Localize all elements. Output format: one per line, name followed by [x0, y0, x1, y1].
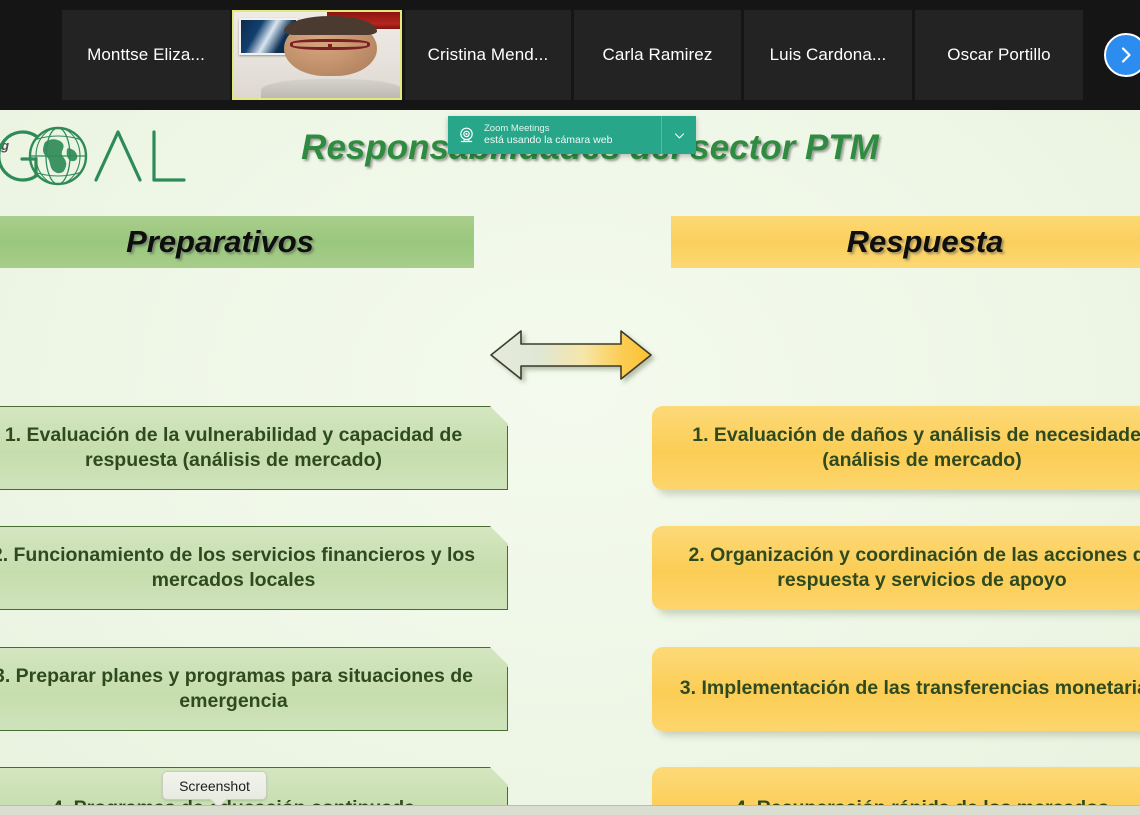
- list-item[interactable]: 3. Implementación de las transferencias …: [652, 647, 1140, 731]
- webcam-in-use-notification[interactable]: Zoom Meetings está usando la cámara web: [448, 116, 696, 154]
- list-item[interactable]: 1. Evaluación de daños y análisis de nec…: [652, 406, 1140, 490]
- list-item-label: 2. Organización y coordinación de las ac…: [668, 543, 1140, 594]
- column-header-label: Respuesta: [847, 224, 1004, 260]
- participant-video: [234, 12, 400, 98]
- box-edge: [507, 546, 509, 609]
- participant-name: Monttse Eliza...: [87, 45, 205, 65]
- participant-tile-active-speaker[interactable]: [232, 10, 402, 100]
- list-item[interactable]: 2. Organización y coordinación de las ac…: [652, 526, 1140, 610]
- list-item[interactable]: 2. Funcionamiento de los servicios finan…: [0, 526, 508, 610]
- screenshot-tooltip: Screenshot: [162, 771, 267, 800]
- participant-name: Luis Cardona...: [770, 45, 887, 65]
- column-header-label: Preparativos: [126, 224, 314, 260]
- chevron-down-icon[interactable]: [662, 129, 696, 142]
- chevron-right-icon[interactable]: [1104, 33, 1140, 77]
- list-item-label: 2. Funcionamiento de los servicios finan…: [0, 543, 492, 594]
- participant-name: Carla Ramirez: [603, 45, 713, 65]
- participant-tile[interactable]: Carla Ramirez: [574, 10, 741, 100]
- list-item-label: 1. Evaluación de daños y análisis de nec…: [668, 423, 1140, 474]
- bottom-edge-bar: [0, 805, 1140, 815]
- list-item-label: 1. Evaluación de la vulnerabilidad y cap…: [0, 423, 492, 474]
- box-edge: [507, 667, 509, 730]
- list-item-label: 3. Implementación de las transferencias …: [680, 676, 1140, 701]
- webcam-icon: [448, 126, 484, 145]
- column-header-respuesta: Respuesta: [671, 216, 1140, 268]
- participant-filmstrip: Monttse Eliza... Cristina Mend... Carla …: [0, 0, 1140, 110]
- participant-tile[interactable]: Cristina Mend...: [405, 10, 571, 100]
- zoom-meeting-screen-share: Monttse Eliza... Cristina Mend... Carla …: [0, 0, 1140, 815]
- double-arrow-icon: [487, 324, 659, 386]
- participant-name: Oscar Portillo: [947, 45, 1050, 65]
- notification-app-name: Zoom Meetings: [484, 123, 661, 135]
- column-header-preparativos: Preparativos: [0, 216, 474, 268]
- box-edge: [507, 426, 509, 489]
- participant-tile[interactable]: Luis Cardona...: [744, 10, 912, 100]
- goal-logo: ling: [0, 118, 196, 194]
- shared-slide: ling Responsabilidades del sector PT: [0, 110, 1140, 805]
- notification-text: Zoom Meetings está usando la cámara web: [484, 123, 661, 148]
- screenshot-tooltip-label: Screenshot: [179, 778, 250, 794]
- participant-name: Cristina Mend...: [428, 45, 549, 65]
- list-item[interactable]: 3. Preparar planes y programas para situ…: [0, 647, 508, 731]
- list-item-label: 3. Preparar planes y programas para situ…: [0, 664, 492, 715]
- video-person-shirt: [261, 79, 400, 98]
- notification-message: está usando la cámara web: [484, 134, 661, 147]
- goal-logo-mark: [0, 118, 194, 194]
- video-person-glasses: [290, 39, 370, 50]
- participant-tile[interactable]: Monttse Eliza...: [62, 10, 230, 100]
- participant-tile[interactable]: Oscar Portillo: [915, 10, 1083, 100]
- list-item[interactable]: 1. Evaluación de la vulnerabilidad y cap…: [0, 406, 508, 490]
